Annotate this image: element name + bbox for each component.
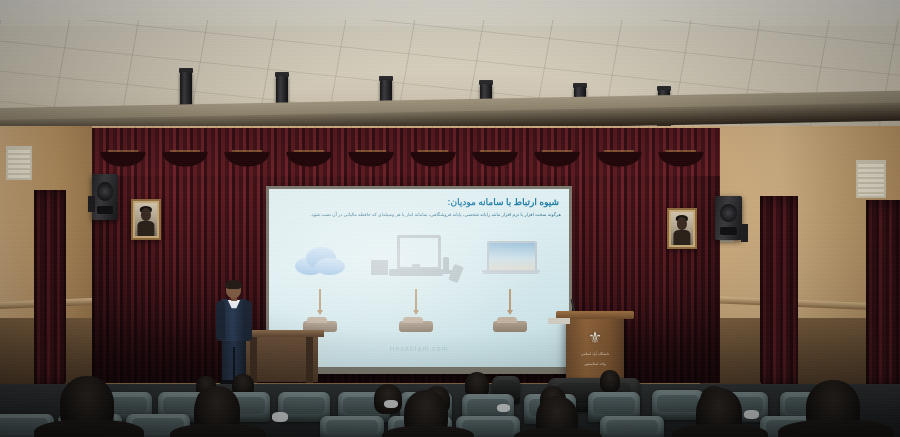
chair-near-4 (320, 416, 384, 437)
laptop-base-icon (482, 270, 540, 274)
audience-shoulders-near-1 (34, 420, 144, 437)
presenter-hair (225, 280, 242, 289)
arrow-down-icon-2 (415, 289, 417, 311)
pa-speaker-left (92, 174, 118, 220)
auditorium-photo: شیوه ارتباط با سامانه مودیان: هرگونه سخت… (0, 0, 900, 437)
podium-text-line1: دانشگاه آزاد اسلامی (568, 352, 622, 356)
card-reader-icon (448, 264, 464, 284)
presenter (214, 281, 254, 385)
speaker-cone (720, 204, 737, 222)
presenter-arm-right (243, 301, 252, 341)
portrait-left-image (135, 203, 157, 236)
side-drape-left (34, 190, 66, 386)
face-mask-4 (744, 410, 759, 419)
face-mask-1 (384, 400, 398, 408)
face-mask-3 (272, 412, 288, 422)
pc-tower-icon (371, 260, 388, 275)
portrait-left (131, 199, 161, 240)
portrait-right-image (671, 212, 693, 245)
audience-head-mid-1 (374, 384, 402, 414)
side-drape-far-right (866, 200, 900, 386)
portrait-face (677, 217, 687, 230)
portrait-robe (673, 230, 690, 245)
audience-head-far-2 (600, 370, 620, 392)
speaker-bracket-right (741, 224, 748, 242)
side-drape-right (760, 196, 798, 386)
portrait-robe (137, 221, 154, 236)
slide-title: شیوه ارتباط با سامانه مودیان: (309, 197, 559, 208)
speaker-cone (97, 182, 114, 200)
audience-shoulders-near-2 (170, 424, 266, 437)
audience-shoulders-near-3 (382, 426, 474, 437)
portrait-face (141, 208, 151, 221)
arrow-down-icon-1 (319, 289, 321, 311)
iran-national-emblem-icon: ⚜ (586, 330, 604, 348)
podium-side-shelf (548, 318, 570, 324)
tax-memory-device-icon-2 (399, 321, 433, 332)
face-mask-2 (497, 404, 510, 412)
monitor-base-icon (389, 269, 443, 276)
barcode-scanner-icon (443, 257, 449, 271)
laptop-lid-icon (487, 241, 537, 273)
air-vent-far-right (856, 160, 886, 198)
speaker-horn (97, 206, 114, 214)
slide-body-text: هرگونه سخت افزار یا نرم افزار مانند رایا… (279, 211, 561, 218)
tax-memory-device-icon-3 (493, 321, 527, 332)
audience-shoulders-near-6 (778, 420, 894, 437)
cloud-icon (293, 245, 347, 275)
pa-speaker-right (715, 196, 742, 240)
arrow-down-icon-3 (509, 289, 511, 311)
stage-table-leg-right (306, 337, 313, 383)
chair-near-7 (600, 416, 664, 437)
audience-shoulders-near-4 (514, 428, 602, 437)
speaker-horn (720, 227, 737, 235)
speaker-bracket-left (88, 196, 95, 212)
audience-shoulders-near-5 (672, 424, 768, 437)
presenter-arm-left (216, 301, 225, 341)
portrait-right (667, 208, 697, 249)
air-vent-left (6, 146, 32, 180)
podium-text-line2: واحد اسلامشهر (568, 362, 622, 366)
